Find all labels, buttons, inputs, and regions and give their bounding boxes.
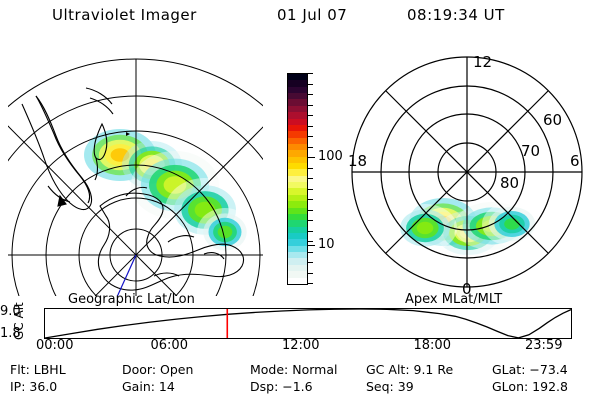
colorbar-tick-label-1: 10 <box>318 238 335 251</box>
instrument-title: Ultraviolet Imager <box>52 6 197 24</box>
colorbar-minor-tick <box>307 241 313 242</box>
colorbar-minor-tick <box>307 178 313 179</box>
status-field-mode: Mode: Normal <box>250 362 337 377</box>
colorbar-minor-tick <box>307 115 313 116</box>
colorbar-minor-tick <box>307 147 313 148</box>
colorbar-major-tick <box>307 157 315 158</box>
status-field-seq: Seq: 39 <box>366 379 414 394</box>
status-field-glon: GLon: 192.8 <box>492 379 568 394</box>
orbit-xtick-3: 18:00 <box>414 338 451 353</box>
mlat-label-70: 70 <box>521 142 540 160</box>
mlt-plot-caption: Apex MLat/MLT <box>405 292 502 307</box>
geo-plot-caption: Geographic Lat/Lon <box>68 292 195 307</box>
orbit-xtick-0: 00:00 <box>36 338 73 353</box>
aurora-blob <box>504 218 520 229</box>
colorbar-minor-tick <box>307 105 313 106</box>
orbit-xtick-2: 12:00 <box>282 338 319 353</box>
colorbar-minor-tick <box>307 136 313 137</box>
colorbar-minor-tick <box>307 220 313 221</box>
aurora-blob <box>218 226 233 238</box>
orbit-altitude-panel[interactable]: Geographic Lat/Lon Apex MLat/MLT GC Alt … <box>0 292 600 354</box>
orbit-ytick-max: 9.0 <box>0 304 42 319</box>
observation-date: 01 Jul 07 <box>277 6 347 24</box>
apex-mlat-mlt-plot[interactable]: 12 18 6 0 80 70 60 <box>340 46 592 296</box>
mlt-label-6: 6 <box>570 152 580 170</box>
observation-time: 08:19:34 UT <box>407 6 505 24</box>
colorbar-minor-tick <box>307 231 313 232</box>
colorbar-minor-tick <box>307 94 313 95</box>
colorbar-gradient <box>287 73 308 285</box>
status-field-ip: IP: 36.0 <box>10 379 57 394</box>
colorbar-minor-tick <box>307 262 313 263</box>
status-field-glat: GLat: −73.4 <box>492 362 568 377</box>
mlt-label-18: 18 <box>348 152 367 170</box>
status-field-flt: Flt: LBHL <box>10 362 66 377</box>
colorbar-minor-tick <box>307 126 313 127</box>
status-bar: Flt: LBHLDoor: OpenMode: NormalGC Alt: 9… <box>0 362 600 400</box>
orbit-xtick-1: 06:00 <box>151 338 188 353</box>
orbit-altitude-curve <box>45 309 571 338</box>
aurora-blob <box>417 222 434 234</box>
orbit-xtick-4: 23:59 <box>525 338 562 353</box>
coastline-south-america <box>22 96 92 210</box>
geographic-plot-canvas <box>8 46 263 296</box>
mlt-label-12: 12 <box>473 53 492 71</box>
colorbar-band <box>288 278 307 284</box>
status-field-gc-alt: GC Alt: 9.1 Re <box>366 362 453 377</box>
colorbar[interactable]: photon cm⁻²s⁻¹ 10010 <box>262 60 342 300</box>
colorbar-minor-tick <box>307 168 313 169</box>
colorbar-minor-tick <box>307 73 313 74</box>
status-field-door: Door: Open <box>122 362 193 377</box>
mlat-label-60: 60 <box>543 111 562 129</box>
header: Ultraviolet Imager 01 Jul 07 08:19:34 UT <box>0 6 600 30</box>
status-field-dsp: Dsp: −1.6 <box>250 379 313 394</box>
mlat-label-80: 80 <box>500 174 519 192</box>
colorbar-minor-tick <box>307 252 313 253</box>
colorbar-minor-tick <box>307 199 313 200</box>
orbit-plot-frame <box>45 309 572 339</box>
colorbar-minor-tick <box>307 210 313 211</box>
aurora-emission-geographic <box>84 129 253 256</box>
status-field-gain: Gain: 14 <box>122 379 175 394</box>
mlt-spokes <box>352 57 582 287</box>
colorbar-minor-tick <box>307 84 313 85</box>
geographic-polar-plot[interactable] <box>8 46 263 296</box>
uvi-display: Ultraviolet Imager 01 Jul 07 08:19:34 UT <box>0 0 600 400</box>
colorbar-major-tick <box>307 245 315 246</box>
colorbar-minor-tick <box>307 189 313 190</box>
mlt-plot-canvas: 12 18 6 0 80 70 60 <box>340 46 592 296</box>
colorbar-minor-tick <box>307 273 313 274</box>
colorbar-minor-tick <box>307 283 313 284</box>
